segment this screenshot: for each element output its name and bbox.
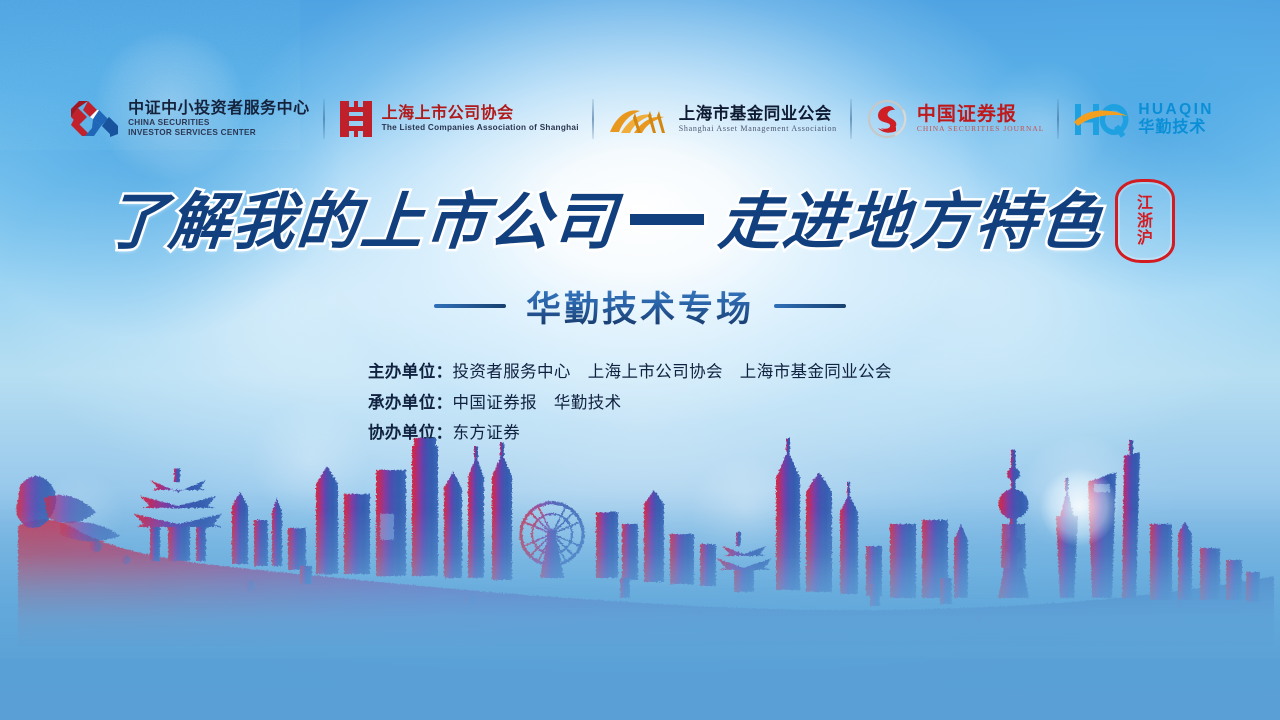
credit-label-host: 主办单位： (368, 363, 453, 381)
title-separator-dash (627, 211, 707, 228)
logo-sama-en: Shanghai Asset Management Association (679, 124, 837, 133)
logo-csj: 中国证券报 CHINA SECURITIES JOURNAL (852, 91, 1057, 147)
seal-char-2: 浙 (1137, 213, 1153, 230)
china-securities-journal-icon (865, 98, 909, 140)
title-part-a: 了解我的上市公司 (102, 191, 619, 253)
main-title-row: 了解我的上市公司 走进地方特色 江 浙 沪 (0, 176, 1280, 268)
logo-lcas-en: The Listed Companies Association of Shan… (382, 123, 579, 133)
logo-sama-cn: 上海市基金同业公会 (679, 105, 837, 123)
logo-huaqin-en: HUAQIN (1138, 101, 1214, 119)
logo-huaqin-cn: 华勤技术 (1138, 119, 1214, 137)
seal-char-3: 沪 (1137, 230, 1153, 247)
title-part-b: 走进地方特色 (716, 191, 1105, 253)
skyline-svg (0, 428, 1280, 658)
subtitle-rule-left (434, 304, 506, 308)
logo-huaqin: HUAQIN 华勤技术 (1059, 91, 1227, 147)
hq-monogram-icon (1072, 97, 1132, 141)
region-seal-stamp: 江 浙 沪 (1115, 179, 1175, 263)
logo-csisc-en2: INVESTOR SERVICES CENTER (128, 128, 310, 138)
credit-line-host: 主办单位：投资者服务中心 上海上市公司协会 上海市基金同业公会 (368, 362, 988, 383)
interlocking-chain-icon (66, 96, 120, 142)
city-skyline-artwork (0, 428, 1280, 658)
logo-csisc: 中证中小投资者服务中心 CHINA SECURITIES INVESTOR SE… (53, 91, 323, 147)
credit-value-host: 投资者服务中心 上海上市公司协会 上海市基金同业公会 (453, 363, 892, 381)
sama-swoosh-icon (607, 99, 671, 139)
seal-char-1: 江 (1137, 195, 1153, 212)
sponsor-logo-bar: 中证中小投资者服务中心 CHINA SECURITIES INVESTOR SE… (0, 88, 1280, 150)
logo-csisc-en1: CHINA SECURITIES (128, 118, 310, 128)
logo-lcas-cn: 上海上市公司协会 (382, 105, 579, 123)
credit-value-organizer: 中国证券报 华勤技术 (453, 394, 622, 412)
shanghai-seal-icon (338, 99, 374, 139)
logo-csj-cn: 中国证券报 (917, 104, 1044, 125)
subtitle-row: 华勤技术专场 (0, 282, 1280, 330)
subtitle-rule-right (774, 304, 846, 308)
logo-sama: 上海市基金同业公会 Shanghai Asset Management Asso… (594, 91, 850, 147)
logo-csisc-cn: 中证中小投资者服务中心 (128, 100, 310, 118)
poster-stage: 中证中小投资者服务中心 CHINA SECURITIES INVESTOR SE… (0, 0, 1280, 720)
logo-lcas: 上海上市公司协会 The Listed Companies Associatio… (325, 91, 592, 147)
logo-csj-en: CHINA SECURITIES JOURNAL (917, 125, 1044, 134)
credit-line-organizer: 承办单位：中国证券报 华勤技术 (368, 393, 988, 414)
subtitle-text: 华勤技术专场 (526, 281, 754, 332)
credit-label-organizer: 承办单位： (368, 394, 453, 412)
